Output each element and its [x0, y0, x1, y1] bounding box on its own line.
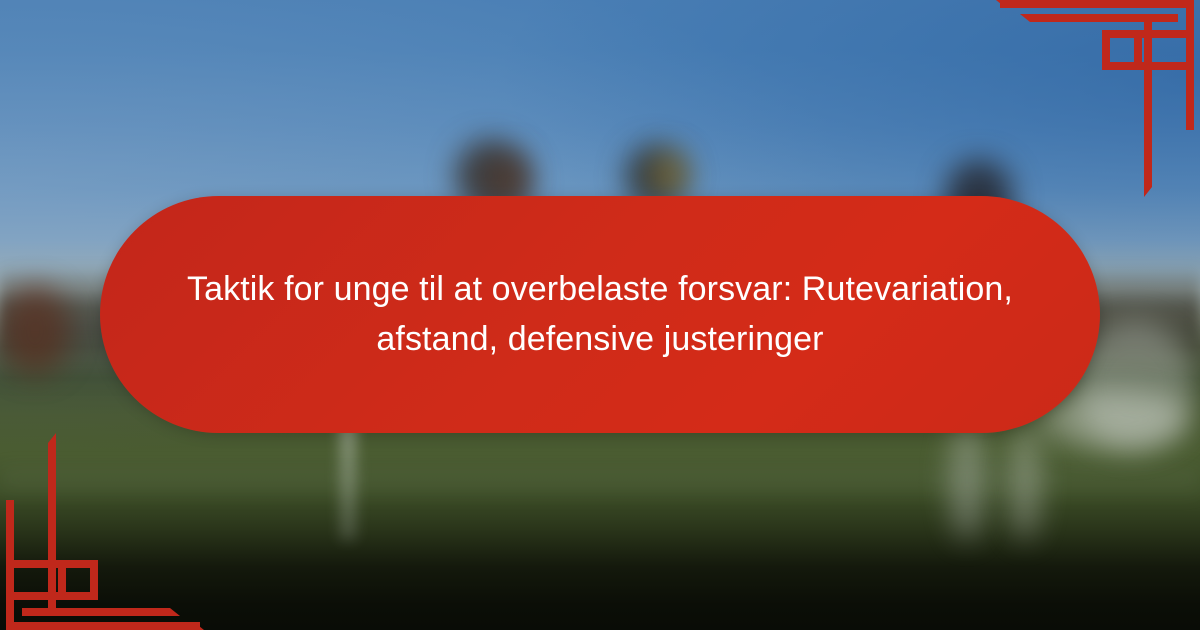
- corner-ornament-top-right: [1000, 0, 1200, 190]
- ornament-bar-vertical-inner: [1144, 22, 1152, 187]
- ornament-bar-tip-icon: [1144, 187, 1152, 197]
- page-title: Taktik for unge til at overbelaste forsv…: [158, 265, 1042, 365]
- blurred-player-figure: [650, 150, 690, 198]
- ornament-bar-tip-icon: [48, 433, 56, 443]
- ornament-bar-tip-icon: [170, 608, 180, 616]
- ornament-bar-tip-icon: [1020, 14, 1030, 22]
- ornament-bar-connector-bottom: [6, 560, 60, 568]
- corner-ornament-bottom-left: [0, 440, 200, 630]
- ornament-bar-horizontal-outer: [1000, 0, 1194, 8]
- ornament-bar-horizontal-outer: [6, 622, 200, 630]
- ornament-square-icon: [1102, 30, 1142, 70]
- ornament-bar-vertical-inner: [48, 443, 56, 608]
- ornament-square-icon: [58, 560, 98, 600]
- blurred-foreground-blob: [0, 285, 70, 375]
- ornament-bar-connector-bottom: [1140, 62, 1194, 70]
- ornament-bar-connector-top: [6, 592, 60, 600]
- ornament-bar-connector-top: [1140, 30, 1194, 38]
- title-banner: Taktik for unge til at overbelaste forsv…: [100, 196, 1100, 433]
- ornament-bar-horizontal-inner: [22, 608, 170, 616]
- ornament-bar-tip-icon: [194, 622, 204, 630]
- ornament-bar-horizontal-inner: [1030, 14, 1178, 22]
- social-share-card: Taktik for unge til at overbelaste forsv…: [0, 0, 1200, 630]
- ornament-bar-tip-icon: [996, 0, 1006, 8]
